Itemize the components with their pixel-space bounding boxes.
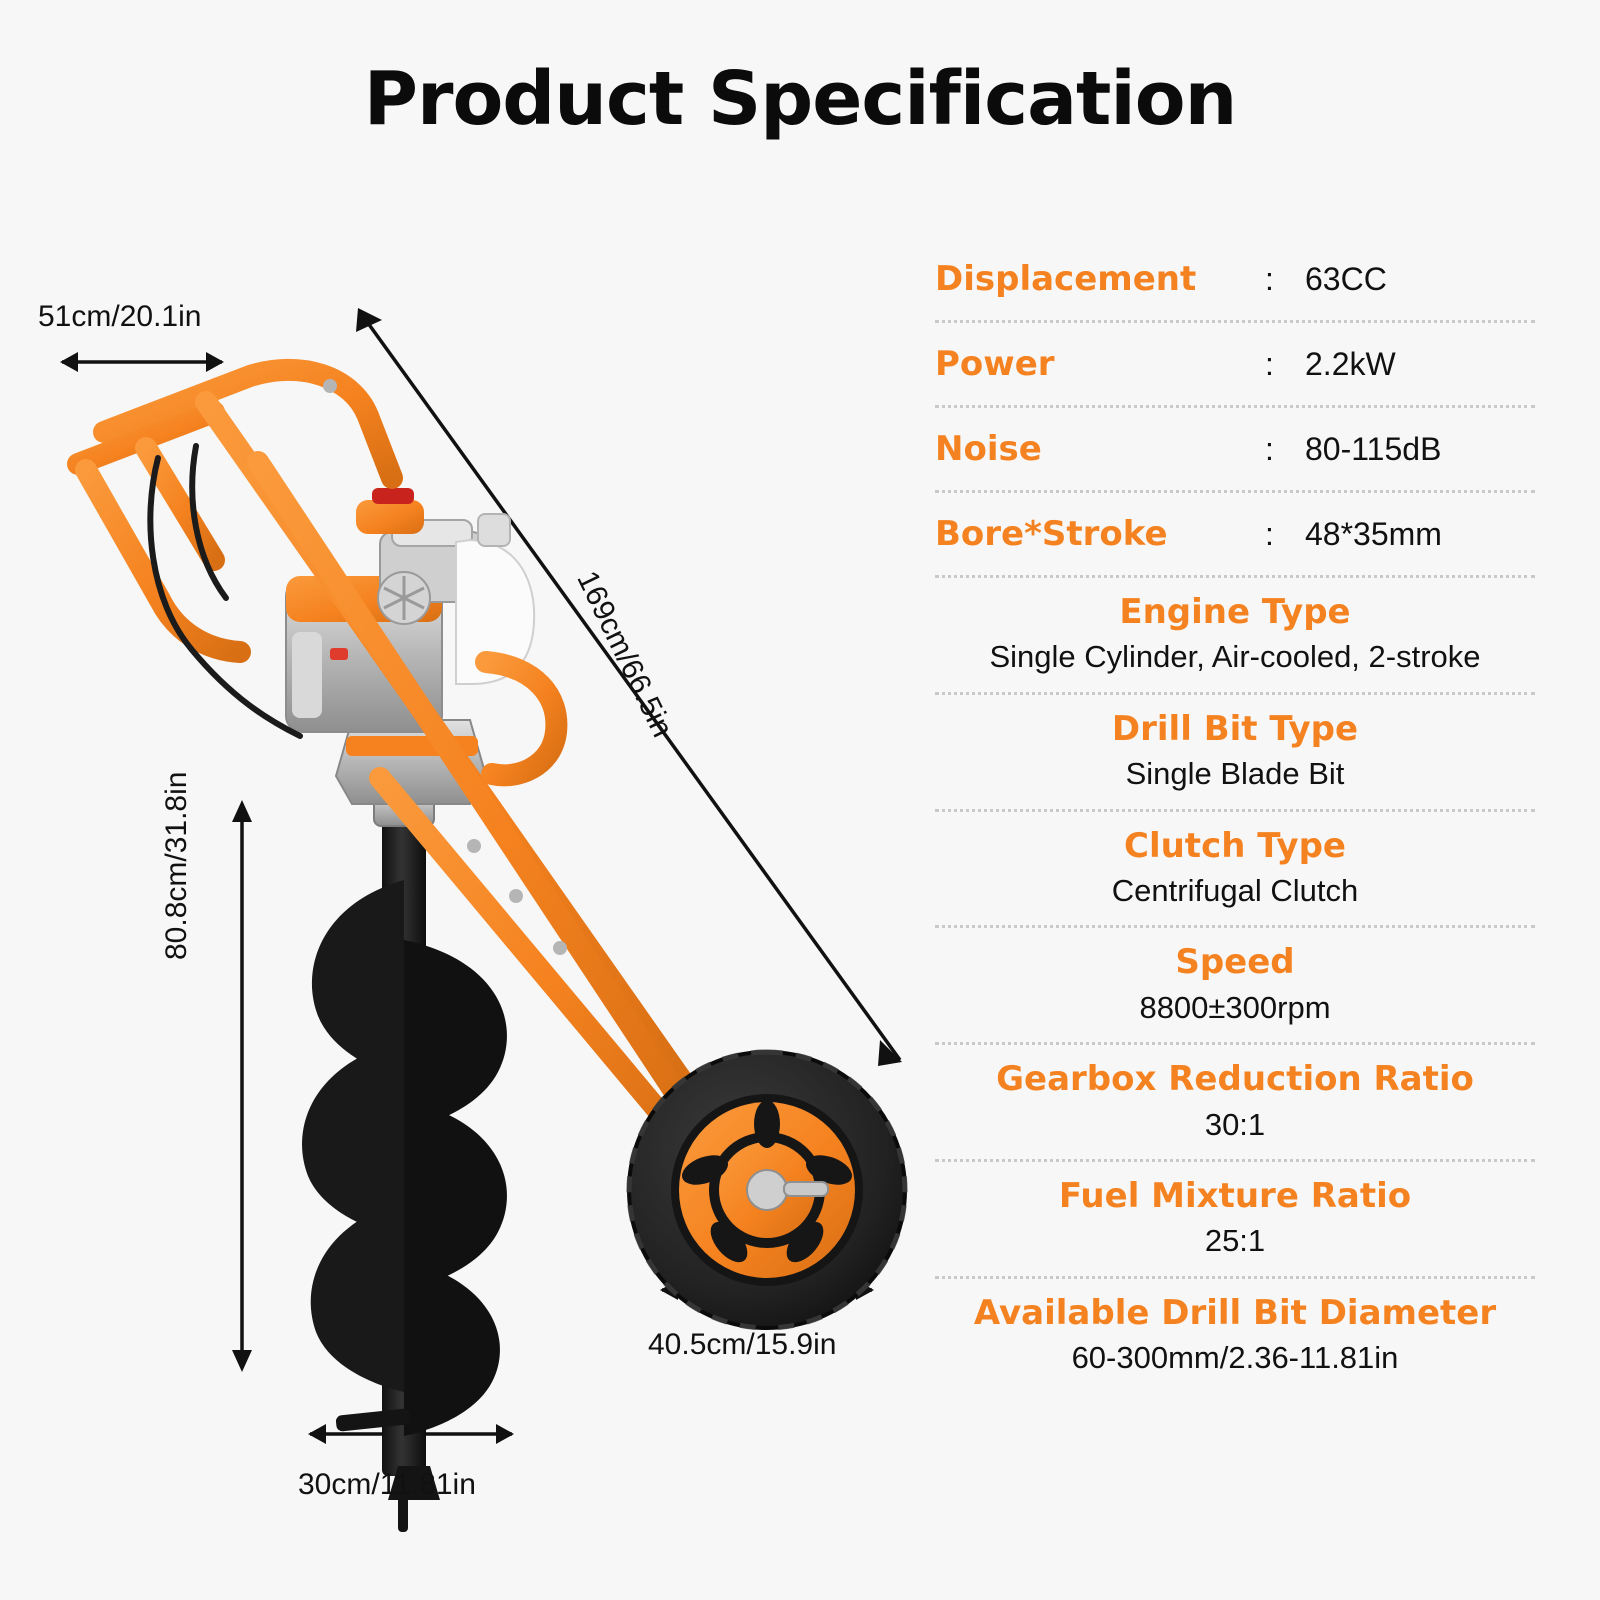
- product-specification-page: Product Specification: [0, 0, 1600, 1600]
- spec-value-noise: 80-115dB: [1305, 408, 1441, 490]
- spec-value-fuel-mixture-ratio: 25:1: [935, 1221, 1535, 1261]
- spec-label-power: Power: [935, 323, 1265, 405]
- spec-row-speed: Speed 8800±300rpm: [935, 928, 1535, 1045]
- spec-value-bore-stroke: 48*35mm: [1305, 493, 1442, 575]
- specification-table: Displacement : 63CC Power : 2.2kW Noise …: [935, 238, 1535, 1392]
- spec-colon-bore-stroke: :: [1265, 493, 1305, 575]
- spec-label-speed: Speed: [935, 942, 1535, 983]
- dim-arrow-auger-length: [232, 800, 252, 1372]
- spec-colon-displacement: :: [1265, 238, 1305, 320]
- spec-value-power: 2.2kW: [1305, 323, 1396, 405]
- wheel: [629, 1052, 905, 1328]
- spec-row-displacement: Displacement : 63CC: [935, 238, 1535, 323]
- spec-value-speed: 8800±300rpm: [935, 988, 1535, 1028]
- spec-label-available-drill-bit-diameter: Available Drill Bit Diameter: [935, 1293, 1535, 1334]
- spec-row-noise: Noise : 80-115dB: [935, 408, 1535, 493]
- spec-label-drill-bit-type: Drill Bit Type: [935, 709, 1535, 750]
- spec-value-gearbox-reduction-ratio: 30:1: [935, 1105, 1535, 1145]
- dimension-label-auger-diameter: 30cm/11.81in: [298, 1468, 476, 1502]
- page-title: Product Specification: [0, 56, 1600, 142]
- spec-colon-power: :: [1265, 323, 1305, 405]
- spec-row-drill-bit-type: Drill Bit Type Single Blade Bit: [935, 695, 1535, 812]
- spec-label-fuel-mixture-ratio: Fuel Mixture Ratio: [935, 1176, 1535, 1217]
- spec-label-gearbox-reduction-ratio: Gearbox Reduction Ratio: [935, 1059, 1535, 1100]
- spec-label-noise: Noise: [935, 408, 1265, 490]
- spec-row-power: Power : 2.2kW: [935, 323, 1535, 408]
- spec-value-available-drill-bit-diameter: 60-300mm/2.36-11.81in: [935, 1338, 1535, 1378]
- spec-value-engine-type: Single Cylinder, Air-cooled, 2-stroke: [935, 637, 1535, 677]
- spec-row-fuel-mixture-ratio: Fuel Mixture Ratio 25:1: [935, 1162, 1535, 1279]
- spec-row-gearbox-reduction-ratio: Gearbox Reduction Ratio 30:1: [935, 1045, 1535, 1162]
- spec-label-engine-type: Engine Type: [935, 592, 1535, 633]
- spec-row-clutch-type: Clutch Type Centrifugal Clutch: [935, 812, 1535, 929]
- spec-value-displacement: 63CC: [1305, 238, 1387, 320]
- spec-label-clutch-type: Clutch Type: [935, 826, 1535, 867]
- spec-label-bore-stroke: Bore*Stroke: [935, 493, 1265, 575]
- dimension-label-handle-width: 51cm/20.1in: [38, 300, 201, 334]
- spec-row-engine-type: Engine Type Single Cylinder, Air-cooled,…: [935, 578, 1535, 695]
- product-illustration: [0, 180, 940, 1580]
- spec-value-drill-bit-type: Single Blade Bit: [935, 754, 1535, 794]
- spec-row-bore-stroke: Bore*Stroke : 48*35mm: [935, 493, 1535, 578]
- spec-colon-noise: :: [1265, 408, 1305, 490]
- dimension-label-auger-length: 80.8cm/31.8in: [160, 772, 194, 960]
- dimension-label-wheel-diameter: 40.5cm/15.9in: [648, 1328, 836, 1362]
- engine-assembly: [286, 488, 534, 804]
- spec-row-available-drill-bit-diameter: Available Drill Bit Diameter 60-300mm/2.…: [935, 1279, 1535, 1393]
- spec-label-displacement: Displacement: [935, 238, 1265, 320]
- dim-arrow-handle-width: [60, 352, 224, 372]
- spec-value-clutch-type: Centrifugal Clutch: [935, 871, 1535, 911]
